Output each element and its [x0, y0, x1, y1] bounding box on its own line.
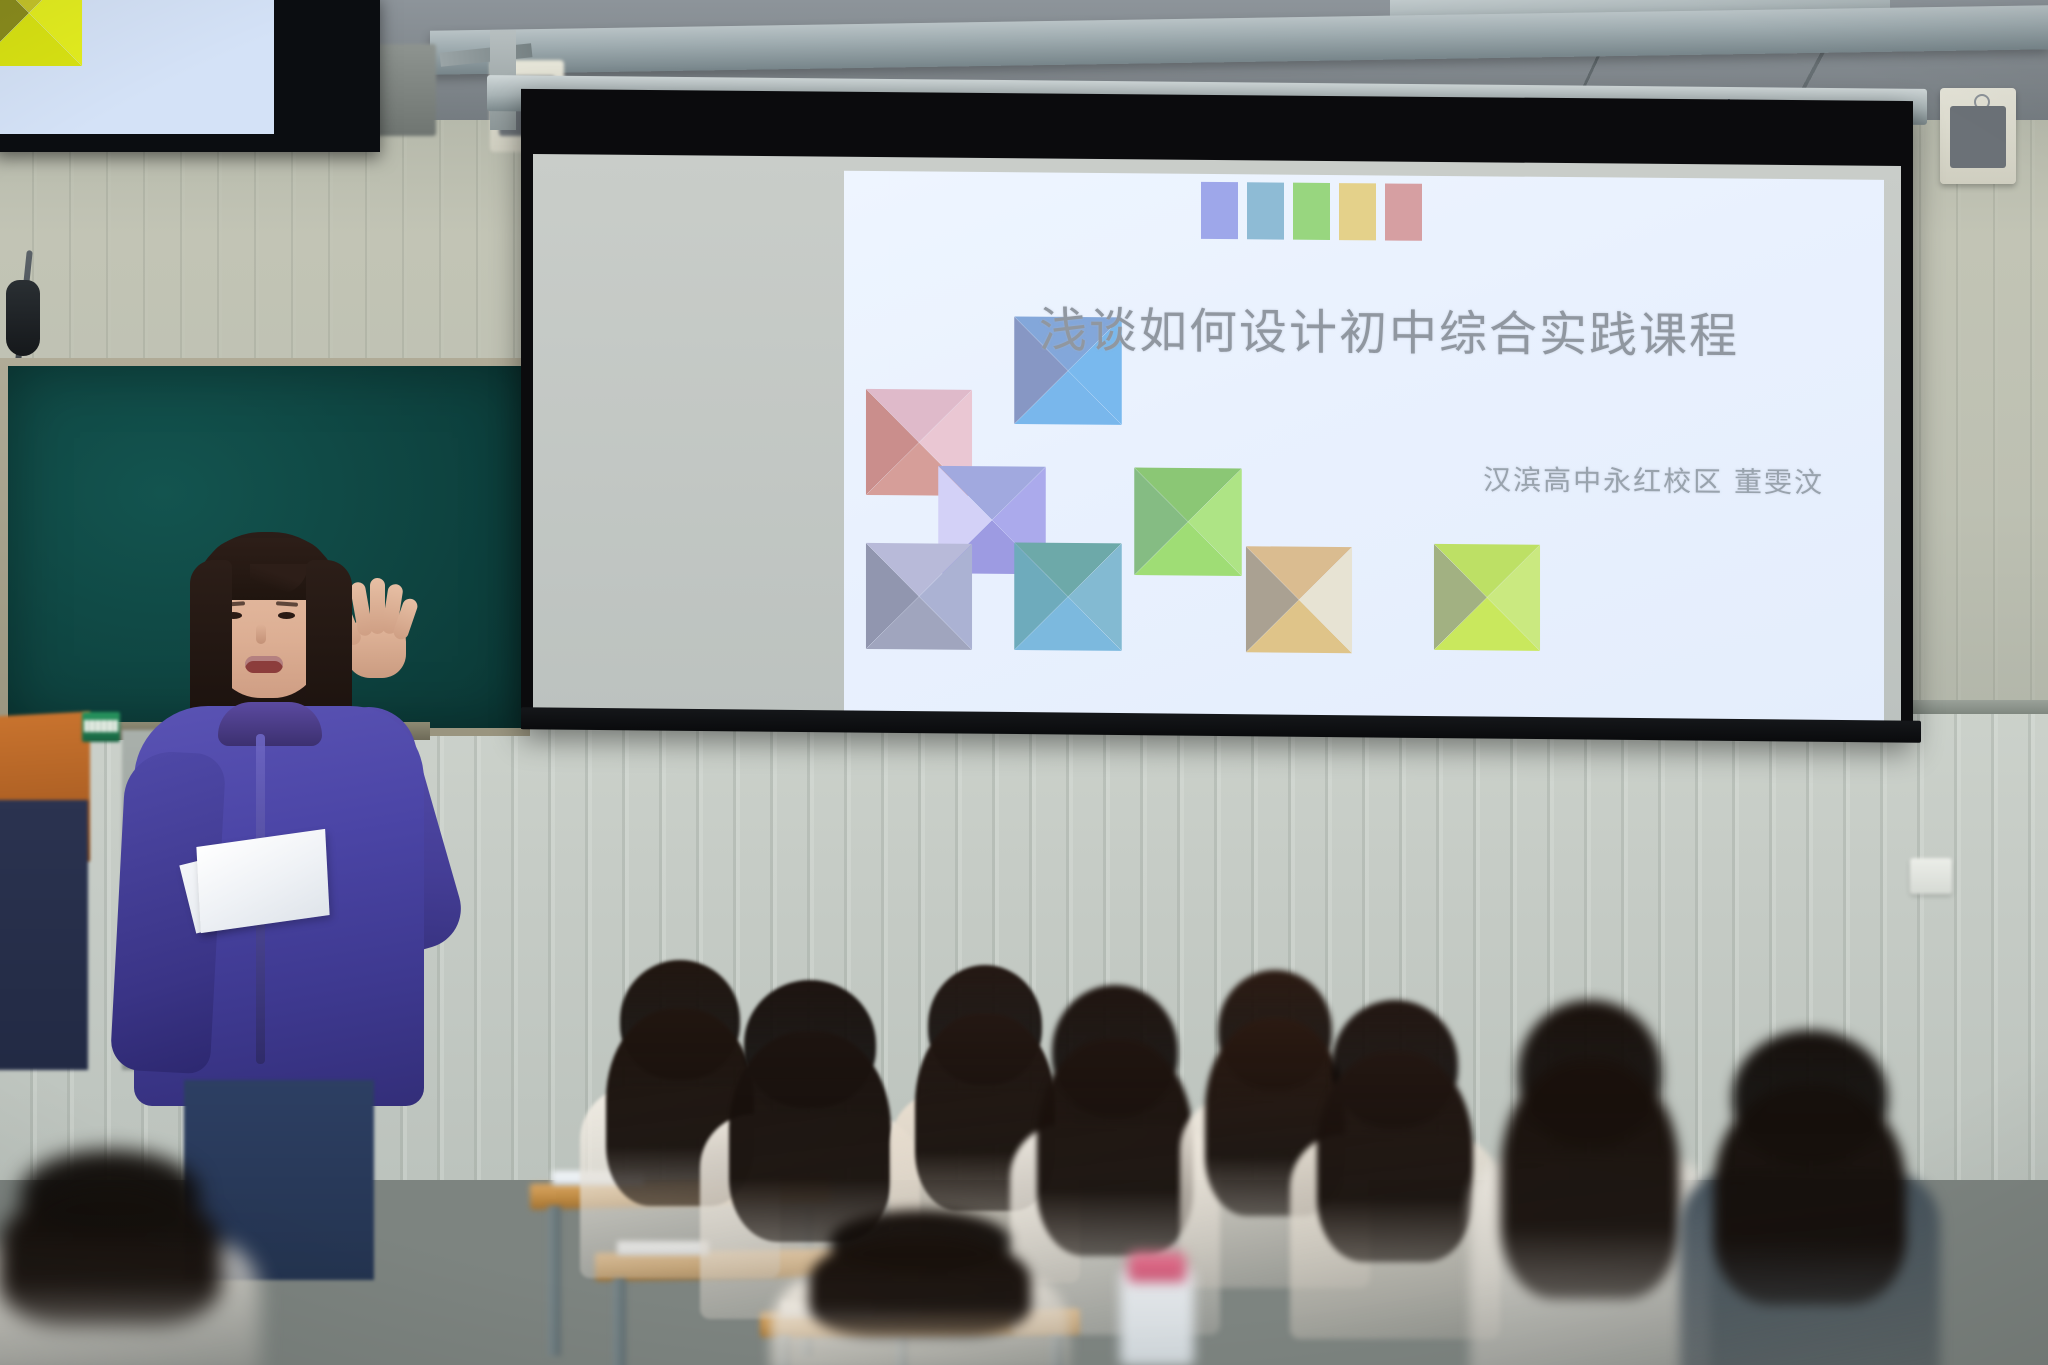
teacher-eye-right: [278, 612, 295, 619]
desk-front-left-leg-left: [548, 1206, 561, 1356]
podium-body: [0, 800, 88, 1070]
student-front-right-b: [1680, 1030, 1940, 1365]
slide-color-swatches: [1201, 182, 1422, 241]
teacher-mouth: [245, 656, 283, 673]
tv-bezel-right: [274, 0, 380, 152]
student-front-right-a-long-hair: [1501, 1058, 1679, 1299]
slide-diamond-pattern: [844, 331, 1884, 736]
tv-bezel-bottom: [0, 134, 274, 152]
projection-screen-surface: 浅谈如何设计初中综合实践课程 汉滨高中永红校区 董雯汶: [533, 154, 1901, 736]
swatch-green: [1293, 183, 1330, 240]
panel-screen: [1950, 106, 2006, 168]
presenting-teacher: [120, 520, 450, 1080]
student-front-right-b-long-hair: [1714, 1084, 1906, 1305]
slide-subtitle: 汉滨高中永红校区 董雯汶: [844, 453, 1824, 502]
wall-power-socket[interactable]: [1910, 858, 1952, 894]
diamond-lime: [1381, 491, 1593, 703]
student-row2-c: [1290, 1000, 1500, 1320]
swatch-sand: [1339, 183, 1376, 240]
tv-diamond-graphic: [0, 0, 135, 119]
teacher-jacket-collar: [218, 702, 322, 746]
desk-front-mid-leg-left: [613, 1278, 626, 1365]
student-row2-c-long-hair: [1317, 1051, 1472, 1262]
chalk-box: [82, 712, 120, 742]
swatch-steel-blue: [1247, 182, 1284, 239]
presentation-slide: 浅谈如何设计初中综合实践课程 汉滨高中永红校区 董雯汶: [844, 171, 1884, 736]
cable-clip: [6, 280, 40, 356]
student-front-left: [0, 1150, 260, 1365]
tv-screen: [0, 0, 274, 134]
wall-control-panel-right[interactable]: [1940, 88, 2016, 184]
student-bottom-center-long-hair: [809, 1235, 1031, 1337]
teacher-nose: [256, 624, 266, 644]
student-bottom-center: [770, 1210, 1070, 1365]
slide-title: 浅谈如何设计初中综合实践课程: [844, 289, 1884, 368]
student-front-left-long-hair: [0, 1184, 221, 1326]
teacher-handout: [196, 829, 329, 933]
water-bottle: [1120, 1268, 1194, 1365]
swatch-rose: [1385, 183, 1422, 240]
wall-mounted-tv: [0, 0, 380, 152]
water-bottle-cap: [1128, 1252, 1186, 1282]
classroom-scene: ■ ■ ■ ■ 浅谈如何设计初中综合实践课程 汉滨高中永红校区 董雯汶: [0, 0, 2048, 1365]
student-front-right-a: [1470, 1000, 1710, 1365]
swatch-periwinkle: [1201, 182, 1238, 239]
